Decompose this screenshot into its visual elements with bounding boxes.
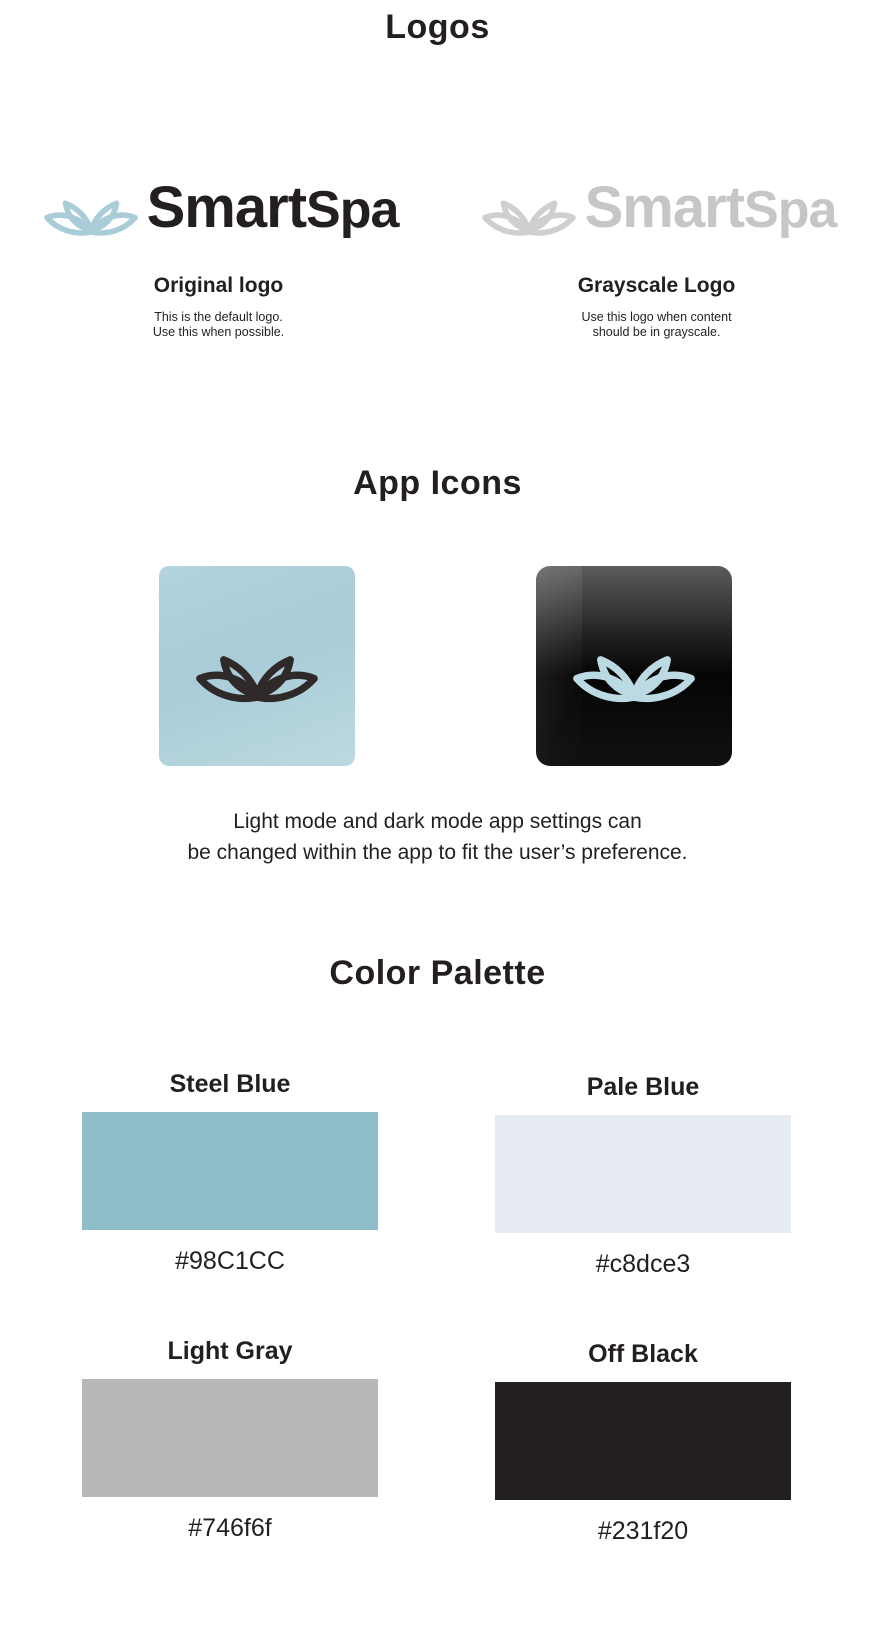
logo-card-grayscale: SmartSpa Grayscale Logo Use this logo wh… <box>438 160 875 340</box>
brand-wordmark-grayscale: SmartSpa <box>585 179 837 237</box>
swatch-color-chip <box>82 1379 378 1497</box>
lotus-logo-mark <box>39 168 143 248</box>
lotus-logo-mark-grayscale <box>477 168 581 248</box>
color-palette-section-title: Color Palette <box>0 952 875 994</box>
app-icons-section-title: App Icons <box>0 462 875 504</box>
logo-description-line-1: This is the default logo. <box>0 310 437 325</box>
logo-lockup-original: SmartSpa <box>0 160 437 256</box>
lotus-icon-light <box>187 614 327 718</box>
brand-wordmark-original: SmartSpa <box>147 179 399 237</box>
app-icons-description: Light mode and dark mode app settings ca… <box>0 806 875 868</box>
swatch-name: Pale Blue <box>495 1071 791 1103</box>
color-swatch-card: Light Gray #746f6f <box>82 1335 378 1545</box>
swatch-hex-code: #231f20 <box>495 1514 791 1548</box>
logos-section-title: Logos <box>0 6 875 48</box>
logo-caption-grayscale: Grayscale Logo <box>438 274 875 298</box>
color-swatch-card: Off Black #231f20 <box>495 1338 791 1548</box>
color-swatch-card: Steel Blue #98C1CC <box>82 1068 378 1278</box>
swatch-hex-code: #746f6f <box>82 1511 378 1545</box>
logo-description-line-2-grayscale: should be in grayscale. <box>438 325 875 340</box>
brand-word-spa-grayscale: Spa <box>744 181 836 239</box>
swatch-name: Light Gray <box>82 1335 378 1367</box>
logo-description-grayscale: Use this logo when content should be in … <box>438 310 875 340</box>
color-swatch-card: Pale Blue #c8dce3 <box>495 1071 791 1281</box>
swatch-name: Off Black <box>495 1338 791 1370</box>
swatch-name: Steel Blue <box>82 1068 378 1100</box>
app-icons-description-line-1: Light mode and dark mode app settings ca… <box>0 806 875 837</box>
swatch-hex-code: #98C1CC <box>82 1244 378 1278</box>
logo-lockup-grayscale: SmartSpa <box>438 160 875 256</box>
logo-caption-original: Original logo <box>0 274 437 298</box>
brand-word-spa: Spa <box>306 181 398 239</box>
logo-description-line-1-grayscale: Use this logo when content <box>438 310 875 325</box>
swatch-hex-code: #c8dce3 <box>495 1247 791 1281</box>
logo-description-line-2: Use this when possible. <box>0 325 437 340</box>
swatch-color-chip <box>495 1382 791 1500</box>
brand-word-smart-grayscale: Smart <box>585 175 744 240</box>
app-icons-description-line-2: be changed within the app to fit the use… <box>0 837 875 868</box>
logo-card-original: SmartSpa Original logo This is the defau… <box>0 160 437 340</box>
lotus-icon-dark <box>564 614 704 718</box>
app-icon-light-mode[interactable] <box>159 566 355 766</box>
swatch-color-chip <box>495 1115 791 1233</box>
swatch-color-chip <box>82 1112 378 1230</box>
brand-word-smart: Smart <box>147 175 306 240</box>
app-icon-dark-mode[interactable] <box>536 566 732 766</box>
logo-description-original: This is the default logo. Use this when … <box>0 310 437 340</box>
